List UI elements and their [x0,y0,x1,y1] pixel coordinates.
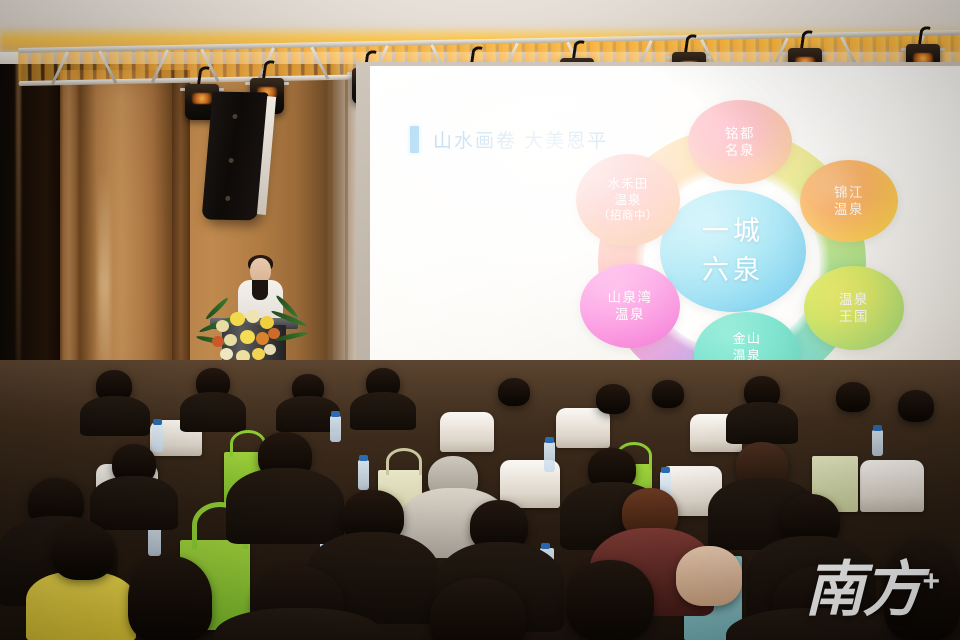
audience-yellow-top [26,572,136,640]
flower [224,334,237,346]
gift-bag-handle [386,448,422,475]
center-line-2: 六泉 [702,251,764,290]
bottle-cap [541,543,550,549]
bubble-top-right-line-2: 温泉 [834,201,864,218]
audience-head [898,390,934,422]
bottle-cap [873,425,882,431]
bubble-bottom-left-line-2: 温泉 [615,306,645,323]
flower [268,328,280,339]
bubble-top-right: 锦江 温泉 [800,160,898,242]
flower [260,316,274,329]
bubble-top: 铭都 名泉 [688,100,792,184]
audience-head [596,384,630,414]
center-bubble: 一城 六泉 [660,190,806,312]
chair [556,408,610,448]
light-lens [192,93,212,104]
audience-head [676,546,742,606]
bubble-bottom-left: 山泉湾 温泉 [580,264,680,348]
water-bottle [544,442,555,472]
audience-head [836,382,870,412]
leaf [204,296,229,320]
flower [240,330,255,344]
chair [440,412,494,452]
center-line-1: 一城 [702,212,764,251]
line-array-speaker [201,92,268,221]
bubble-right-line-1: 温泉 [839,291,869,308]
audience-shoulders [726,402,798,444]
title-accent-bar [410,126,419,153]
flower [216,320,229,332]
audience-head [498,378,530,406]
flower [264,344,276,355]
audience-shoulders [180,392,246,432]
bubble-right-line-2: 王国 [839,308,869,325]
audience-head [884,540,960,640]
audience-shoulders [350,392,416,430]
bottle-cap [359,455,368,461]
audience-shoulders [90,476,178,530]
audience-head [566,560,654,640]
audience-head [52,524,114,580]
photo-scene: 山水画卷 大美恩平 一城 六泉 铭都 名泉 锦江 温泉 温泉 王国 [0,0,960,640]
water-bottle [358,460,369,490]
bubble-top-left: 水禾田 温泉 （招商中） [576,154,680,246]
flower [246,310,260,323]
bottle-cap [661,467,670,473]
bubble-top-left-line-2: 温泉 [614,193,641,209]
presenter-collar [252,280,268,300]
bubble-top-right-line-1: 锦江 [834,184,864,201]
flower [230,312,245,326]
audience-shoulders [80,396,150,436]
water-bottle [872,430,883,456]
bubble-bottom-left-line-1: 山泉湾 [608,289,653,306]
bottle-cap [545,437,554,443]
chair [860,460,924,512]
flower [212,336,224,347]
audience-head [652,380,684,408]
speaker-fitting [228,158,233,163]
flower [220,348,233,360]
bubble-top-left-line-1: 水禾田 [608,177,649,193]
bubble-right: 温泉 王国 [804,266,904,350]
bubble-top-line-1: 铭都 [725,125,755,142]
bottle-cap [153,419,162,425]
bubble-top-line-2: 名泉 [725,142,755,159]
speaker-fitting [225,196,230,201]
bubble-top-left-line-3: （招商中） [598,209,658,223]
water-bottle [330,416,341,442]
bottle-cap [331,411,340,417]
audience-area [0,360,960,640]
bubble-bottom-line-1: 金山 [733,331,761,347]
water-bottle [152,424,163,452]
audience-shoulders [226,468,344,544]
audience-head-long-hair [128,556,212,640]
speaker-fitting [232,114,237,119]
